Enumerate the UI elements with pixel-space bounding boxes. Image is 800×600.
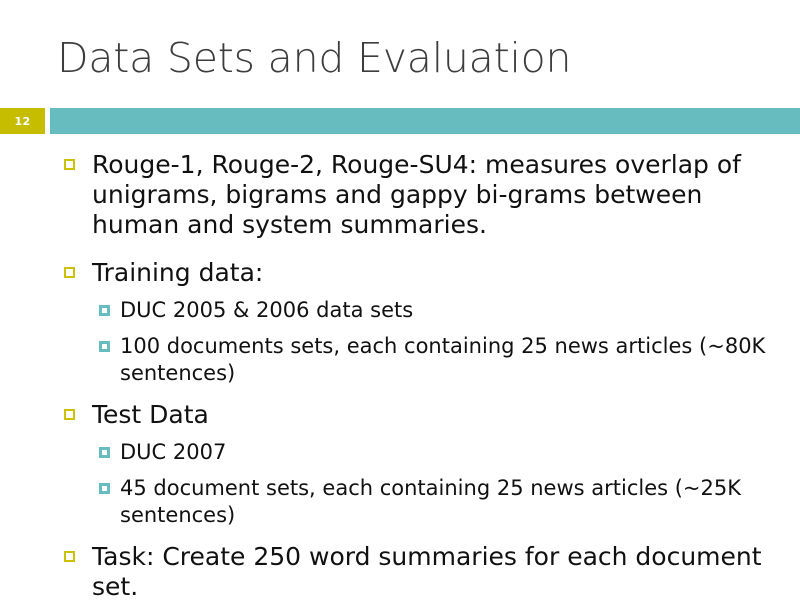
sub-bullet-text: 45 document sets, each containing 25 new… <box>120 476 741 527</box>
spacer <box>0 468 800 475</box>
sub-bullet-text: 100 documents sets, each containing 25 n… <box>120 334 765 385</box>
presentation-slide: Data Sets and Evaluation 12 Rouge-1, Rou… <box>0 0 800 600</box>
title-decoration-band: 12 <box>0 108 800 134</box>
sub-bullet-item: 100 documents sets, each containing 25 n… <box>0 333 800 387</box>
bullet-square-teal-icon <box>99 447 110 458</box>
sub-bullet-text: DUC 2007 <box>120 440 226 464</box>
sub-bullet-item: DUC 2007 <box>0 439 800 466</box>
bullet-item: Rouge-1, Rouge-2, Rouge-SU4: measures ov… <box>0 150 800 240</box>
bullet-square-teal-icon <box>99 483 110 494</box>
sub-bullet-item: 45 document sets, each containing 25 new… <box>0 475 800 529</box>
bullet-item: Training data: <box>0 258 800 288</box>
bullet-text: Rouge-1, Rouge-2, Rouge-SU4: measures ov… <box>92 150 741 239</box>
slide-number-badge: 12 <box>0 108 45 134</box>
bullet-square-teal-icon <box>99 341 110 352</box>
page-title: Data Sets and Evaluation <box>57 33 571 83</box>
bullet-square-teal-icon <box>99 305 110 316</box>
bullet-item: Task: Create 250 word summaries for each… <box>0 542 800 600</box>
bullet-text: Test Data <box>92 400 209 429</box>
bullet-square-gold-icon <box>64 159 75 170</box>
spacer <box>0 326 800 333</box>
bullet-item: Test Data <box>0 400 800 430</box>
spacer <box>0 290 800 297</box>
spacer <box>0 432 800 439</box>
spacer <box>0 242 800 258</box>
spacer <box>0 531 800 542</box>
sub-bullet-text: DUC 2005 & 2006 data sets <box>120 298 413 322</box>
bullet-text: Task: Create 250 word summaries for each… <box>92 542 762 600</box>
title-underline-rule <box>50 108 800 134</box>
bullet-square-gold-icon <box>64 409 75 420</box>
spacer <box>0 389 800 400</box>
slide-body: Rouge-1, Rouge-2, Rouge-SU4: measures ov… <box>0 150 800 600</box>
bullet-square-gold-icon <box>64 551 75 562</box>
bullet-square-gold-icon <box>64 267 75 278</box>
sub-bullet-item: DUC 2005 & 2006 data sets <box>0 297 800 324</box>
bullet-text: Training data: <box>92 258 263 287</box>
